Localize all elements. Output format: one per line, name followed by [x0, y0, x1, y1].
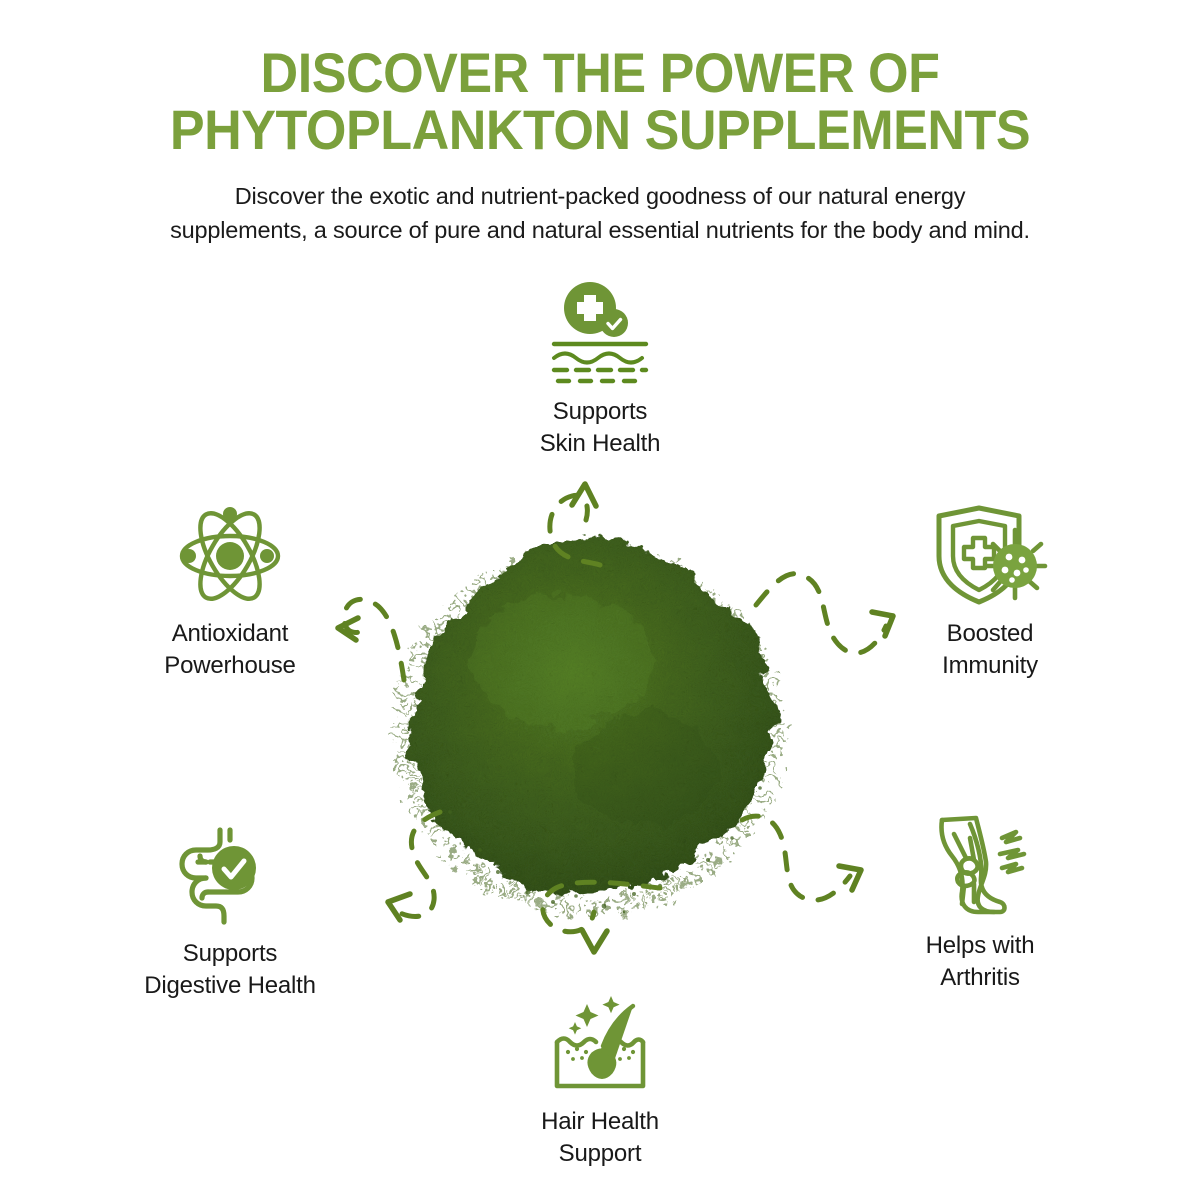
knee-joint-pain-icon	[850, 812, 1110, 920]
phytoplankton-powder-image	[388, 520, 792, 920]
benefit-antioxidant-label: Antioxidant Powerhouse	[100, 618, 360, 682]
title-line-1: DISCOVER THE POWER OF	[42, 44, 1158, 101]
benefit-digestive: Supports Digestive Health	[100, 820, 360, 1002]
infographic-canvas: DISCOVER THE POWER OF PHYTOPLANKTON SUPP…	[0, 0, 1200, 1200]
benefit-hair: Hair Health Support	[470, 988, 730, 1170]
atom-icon	[100, 500, 360, 608]
benefit-hair-label: Hair Health Support	[470, 1106, 730, 1170]
benefit-arthritis-label: Helps with Arthritis	[850, 930, 1110, 994]
benefit-immunity-label: Boosted Immunity	[860, 618, 1120, 682]
benefit-immunity: Boosted Immunity	[860, 500, 1120, 682]
shield-virus-icon	[860, 500, 1120, 608]
page-title: DISCOVER THE POWER OF PHYTOPLANKTON SUPP…	[42, 44, 1158, 158]
subtitle-line-1: Discover the exotic and nutrient-packed …	[95, 180, 1105, 213]
intestine-check-icon	[100, 820, 360, 928]
skin-layers-plus-icon	[470, 278, 730, 386]
benefit-skin-label: Supports Skin Health	[470, 396, 730, 460]
benefit-arthritis: Helps with Arthritis	[850, 812, 1110, 994]
page-subtitle: Discover the exotic and nutrient-packed …	[95, 180, 1105, 247]
hair-follicle-icon	[470, 988, 730, 1096]
benefit-skin: Supports Skin Health	[470, 278, 730, 460]
header: DISCOVER THE POWER OF PHYTOPLANKTON SUPP…	[0, 44, 1200, 247]
benefit-digestive-label: Supports Digestive Health	[100, 938, 360, 1002]
title-line-2: PHYTOPLANKTON SUPPLEMENTS	[42, 101, 1158, 158]
subtitle-line-2: supplements, a source of pure and natura…	[95, 214, 1105, 247]
benefit-antioxidant: Antioxidant Powerhouse	[100, 500, 360, 682]
